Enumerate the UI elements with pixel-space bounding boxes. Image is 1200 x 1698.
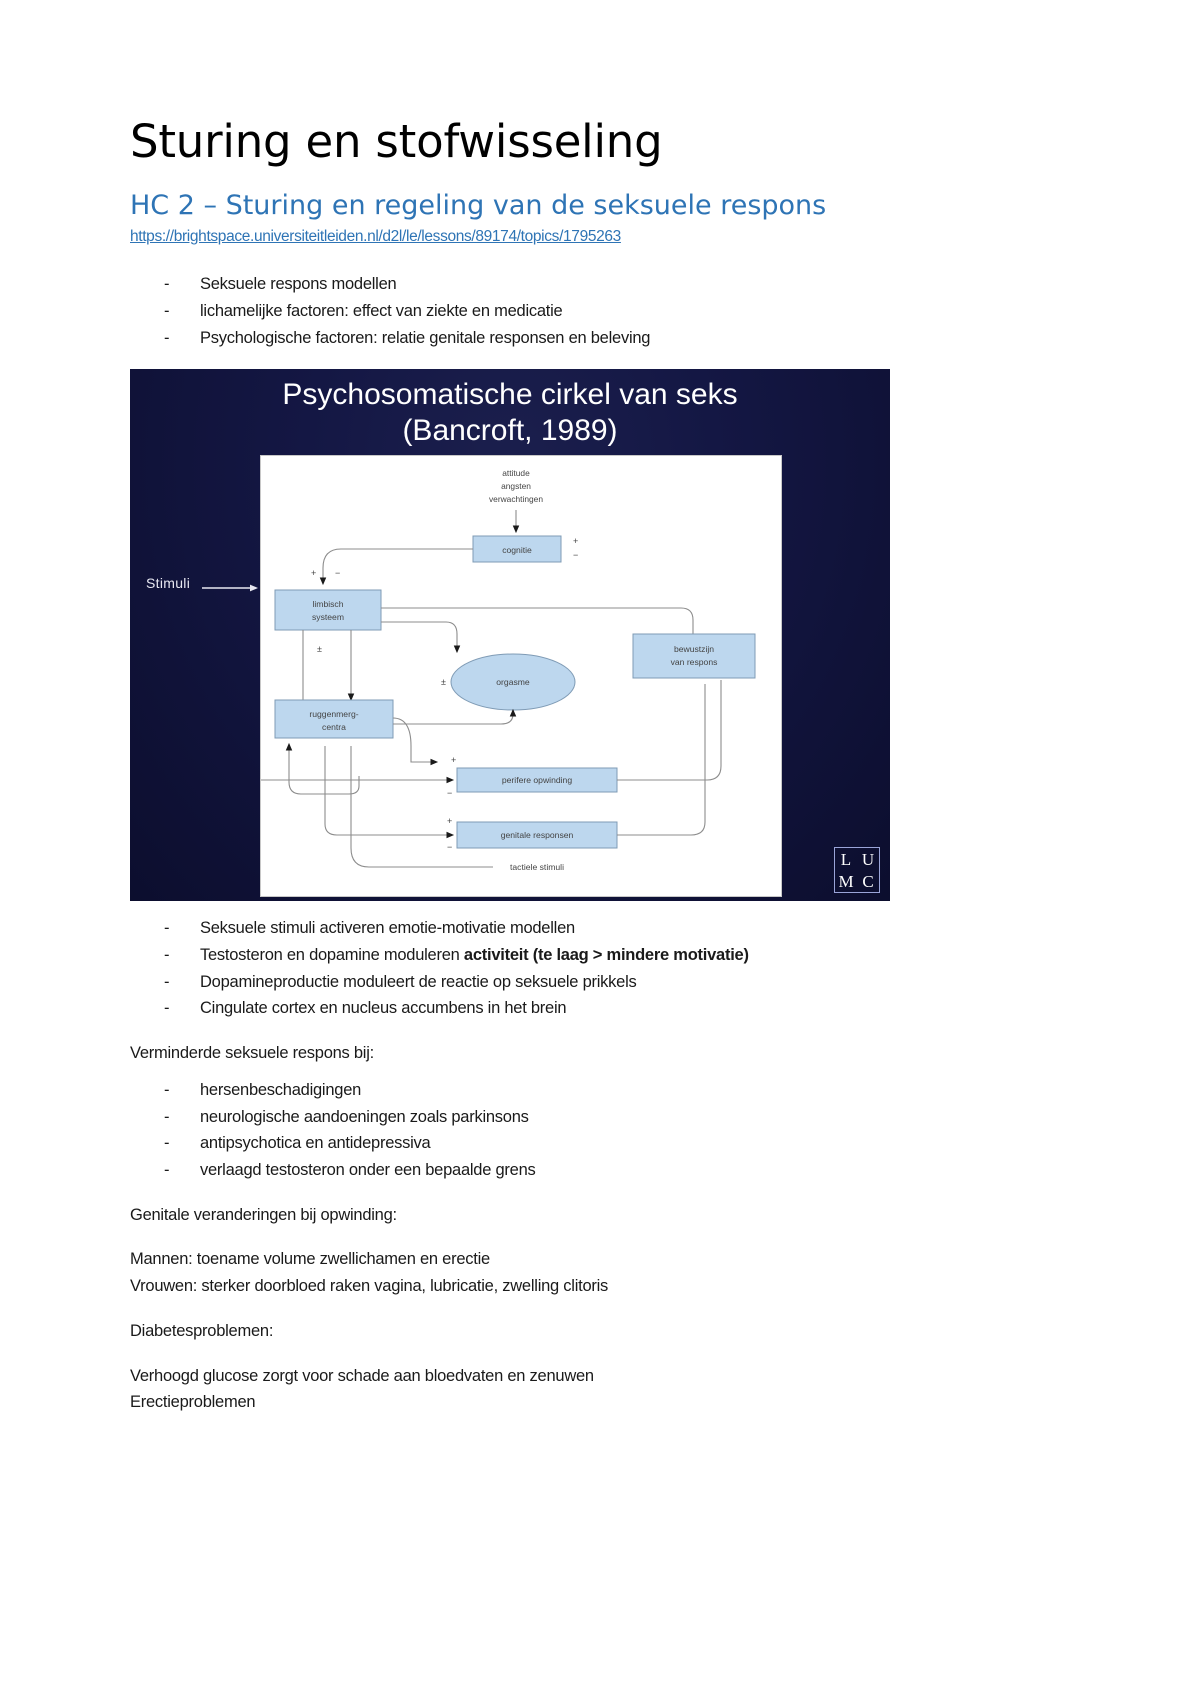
list-item-label: neurologische aandoeningen zoals parkins…	[200, 1108, 529, 1126]
stimuli-label: Stimuli	[146, 575, 190, 591]
text-diabetes-line-2: Erectieproblemen	[130, 1389, 1070, 1416]
list-item-label: antipsychotica en antidepressiva	[200, 1134, 430, 1152]
node-ruggenmerg-label-1: ruggenmerg-	[309, 709, 358, 719]
dash-bullet-icon: -	[164, 325, 169, 352]
list-item-label: lichamelijke factoren: effect van ziekte…	[200, 302, 562, 320]
sign-minus: −	[573, 550, 578, 560]
note-attitude: attitude	[502, 468, 530, 478]
document-content: Sturing en stofwisseling HC 2 – Sturing …	[130, 118, 1070, 1416]
lumc-letter-u: U	[862, 849, 874, 870]
node-ruggenmerg-centra	[275, 700, 393, 738]
dash-bullet-icon: -	[164, 942, 169, 969]
slide-title-block: Psychosomatische cirkel van seks (Bancro…	[130, 377, 890, 448]
node-bewustzijn-van-respons	[633, 634, 755, 678]
dash-bullet-icon: -	[164, 1077, 169, 1104]
node-limbisch-label-2: systeem	[312, 612, 344, 622]
section-heading-hc2: HC 2 – Sturing en regeling van de seksue…	[130, 191, 1070, 221]
list-item-label: hersenbeschadigingen	[200, 1081, 361, 1099]
node-bewustzijn-label-1: bewustzijn	[674, 644, 714, 654]
list-item: -Dopamineproductie moduleert de reactie …	[164, 969, 1070, 996]
sign-plusminus: ±	[441, 677, 446, 687]
list-item-label: Dopamineproductie moduleert de reactie o…	[200, 973, 637, 991]
node-bewustzijn-label-2: van respons	[671, 657, 718, 667]
list-item-emphasis: activiteit (te laag > mindere motivatie)	[464, 946, 749, 964]
label-tactiele-stimuli: tactiele stimuli	[510, 862, 564, 872]
list-item: -hersenbeschadigingen	[164, 1077, 1070, 1104]
bancroft-diagram-panel: attitude angsten verwachtingen cognitie …	[260, 455, 782, 897]
node-cognitie-label: cognitie	[502, 545, 532, 555]
list-item-label: verlaagd testosteron onder een bepaalde …	[200, 1161, 536, 1179]
verminderde-bullet-list: -hersenbeschadigingen -neurologische aan…	[130, 1077, 1070, 1184]
list-item-label: Testosteron en dopamine moduleren	[200, 946, 464, 964]
dash-bullet-icon: -	[164, 969, 169, 996]
dash-bullet-icon: -	[164, 1157, 169, 1184]
sign-minus: −	[447, 842, 452, 852]
sign-plusminus: ±	[317, 644, 322, 654]
page-title: Sturing en stofwisseling	[130, 118, 1070, 165]
list-item: -lichamelijke factoren: effect van ziekt…	[164, 298, 1070, 325]
lumc-logo: L U M C	[834, 847, 880, 893]
stimuli-arrow-icon	[202, 583, 258, 593]
list-item: -neurologische aandoeningen zoals parkin…	[164, 1104, 1070, 1131]
node-limbisch-systeem	[275, 590, 381, 630]
list-item: -Seksuele stimuli activeren emotie-motiv…	[164, 915, 1070, 942]
bancroft-diagram-svg: attitude angsten verwachtingen cognitie …	[261, 456, 781, 896]
sign-plus: +	[573, 536, 578, 546]
heading-verminderde-respons: Verminderde seksuele respons bij:	[130, 1040, 1070, 1067]
list-item: -Testosteron en dopamine moduleren activ…	[164, 942, 1070, 969]
dash-bullet-icon: -	[164, 298, 169, 325]
slide-title-line-2: (Bancroft, 1989)	[130, 413, 890, 448]
heading-diabetesproblemen: Diabetesproblemen:	[130, 1318, 1070, 1345]
node-genitale-responsen-label: genitale responsen	[501, 830, 574, 840]
node-orgasme-label: orgasme	[496, 677, 530, 687]
sign-plus: +	[451, 755, 456, 765]
lumc-letter-c: C	[862, 871, 873, 892]
intro-bullet-list: -Seksuele respons modellen -lichamelijke…	[130, 271, 1070, 351]
document-page: Sturing en stofwisseling HC 2 – Sturing …	[0, 0, 1200, 1698]
dash-bullet-icon: -	[164, 1130, 169, 1157]
dash-bullet-icon: -	[164, 915, 169, 942]
post-image-bullet-list: -Seksuele stimuli activeren emotie-motiv…	[130, 915, 1070, 1022]
embedded-slide-image: Psychosomatische cirkel van seks (Bancro…	[130, 369, 890, 901]
text-vrouwen: Vrouwen: sterker doorbloed raken vagina,…	[130, 1273, 1070, 1300]
sign-plus: +	[311, 568, 316, 578]
note-verwachtingen: verwachtingen	[489, 494, 543, 504]
dash-bullet-icon: -	[164, 995, 169, 1022]
note-angsten: angsten	[501, 481, 531, 491]
node-limbisch-label-1: limbisch	[312, 599, 343, 609]
dash-bullet-icon: -	[164, 1104, 169, 1131]
lecture-link[interactable]: https://brightspace.universiteitleiden.n…	[130, 227, 621, 247]
sign-plus: +	[447, 816, 452, 826]
list-item: -verlaagd testosteron onder een bepaalde…	[164, 1157, 1070, 1184]
list-item: -Cingulate cortex en nucleus accumbens i…	[164, 995, 1070, 1022]
text-diabetes-line-1: Verhoogd glucose zorgt voor schade aan b…	[130, 1363, 1070, 1390]
sign-minus: −	[447, 788, 452, 798]
sign-minus: −	[335, 568, 340, 578]
list-item: -Psychologische factoren: relatie genita…	[164, 325, 1070, 352]
lumc-letter-m: M	[838, 871, 853, 892]
list-item: -Seksuele respons modellen	[164, 271, 1070, 298]
node-ruggenmerg-label-2: centra	[322, 722, 346, 732]
list-item-label: Cingulate cortex en nucleus accumbens in…	[200, 999, 566, 1017]
text-mannen: Mannen: toename volume zwellichamen en e…	[130, 1246, 1070, 1273]
node-perifere-opwinding-label: perifere opwinding	[502, 775, 572, 785]
list-item-label: Psychologische factoren: relatie genital…	[200, 329, 650, 347]
lumc-letter-l: L	[841, 849, 851, 870]
slide-title-line-1: Psychosomatische cirkel van seks	[130, 377, 890, 412]
dash-bullet-icon: -	[164, 271, 169, 298]
list-item-label: Seksuele respons modellen	[200, 275, 396, 293]
list-item: -antipsychotica en antidepressiva	[164, 1130, 1070, 1157]
list-item-label: Seksuele stimuli activeren emotie-motiva…	[200, 919, 575, 937]
heading-genitale-veranderingen: Genitale veranderingen bij opwinding:	[130, 1202, 1070, 1229]
